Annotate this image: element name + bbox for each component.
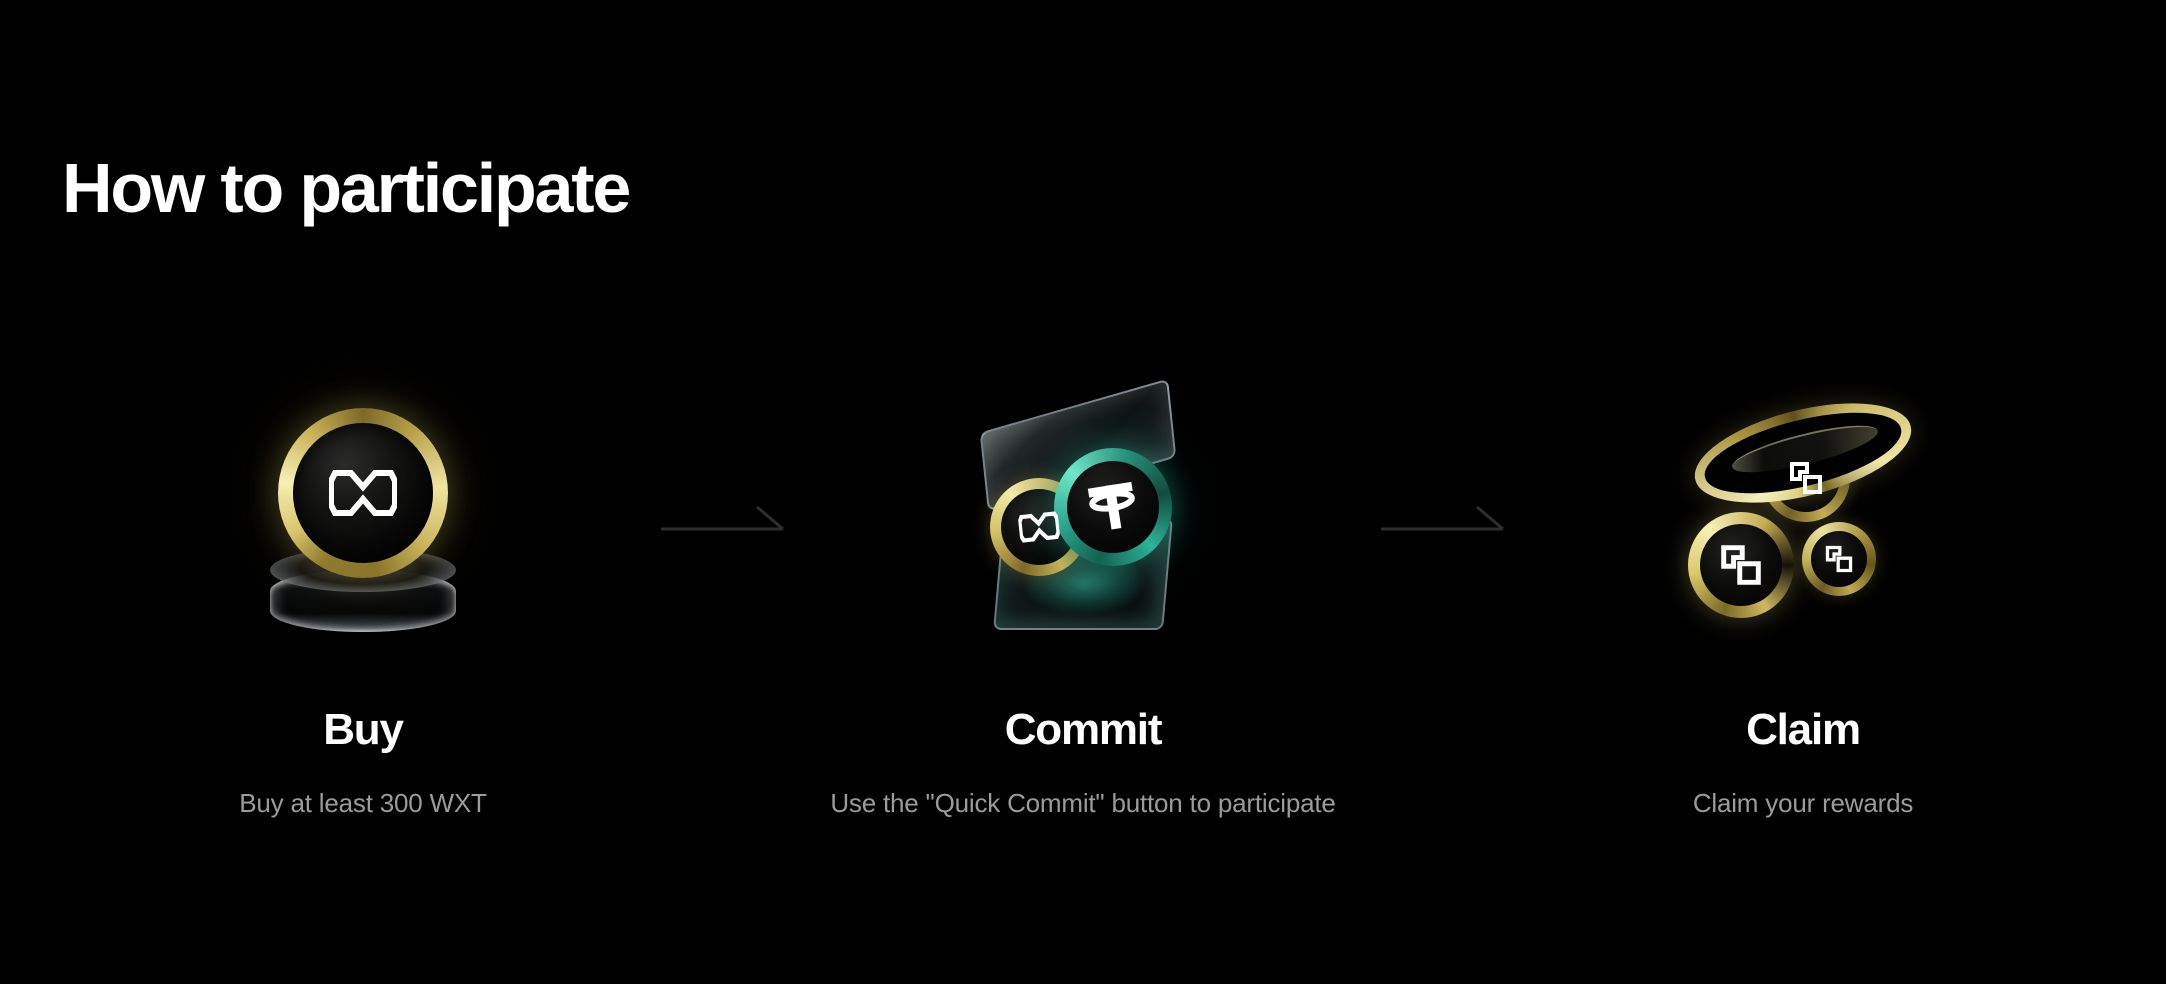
step-buy-title: Buy xyxy=(323,708,403,752)
step-claim-illustration xyxy=(1653,400,1953,640)
tether-logo-icon xyxy=(1081,477,1144,537)
arrow-right-icon xyxy=(1381,503,1505,537)
connector-2 xyxy=(1363,400,1523,640)
reward-logo-icon xyxy=(1720,544,1762,586)
reward-coin-icon xyxy=(1802,522,1876,596)
reward-logo-icon xyxy=(1825,545,1853,573)
step-commit-title: Commit xyxy=(1005,708,1162,752)
reward-logo-icon xyxy=(1789,461,1823,495)
step-buy-illustration xyxy=(213,400,513,640)
step-buy: Buy Buy at least 300 WXT xyxy=(83,400,643,819)
wxt-logo-icon xyxy=(1018,510,1061,543)
reward-coin-icon xyxy=(1688,512,1794,618)
page-title: How to participate xyxy=(62,150,629,227)
step-claim: Claim Claim your rewards xyxy=(1523,400,2083,819)
step-commit-description: Use the "Quick Commit" button to partici… xyxy=(830,788,1335,819)
steps-row: Buy Buy at least 300 WXT xyxy=(0,400,2166,819)
coin-on-pedestal-graphic xyxy=(248,400,478,640)
arrow-right-icon xyxy=(661,503,785,537)
step-buy-description: Buy at least 300 WXT xyxy=(239,788,486,819)
step-commit-illustration xyxy=(933,400,1233,640)
step-commit: Commit Use the "Quick Commit" button to … xyxy=(803,400,1363,819)
step-claim-description: Claim your rewards xyxy=(1693,788,1913,819)
glass-chest-graphic xyxy=(958,400,1208,640)
connector-1 xyxy=(643,400,803,640)
step-claim-title: Claim xyxy=(1746,708,1860,752)
wxt-coin-icon xyxy=(278,408,448,578)
wxt-logo-icon xyxy=(329,469,397,517)
reward-coins-graphic xyxy=(1678,400,1928,640)
how-to-participate-section: How to participate Buy Buy at least 300 … xyxy=(0,0,2166,984)
tether-coin-icon xyxy=(1054,448,1172,566)
